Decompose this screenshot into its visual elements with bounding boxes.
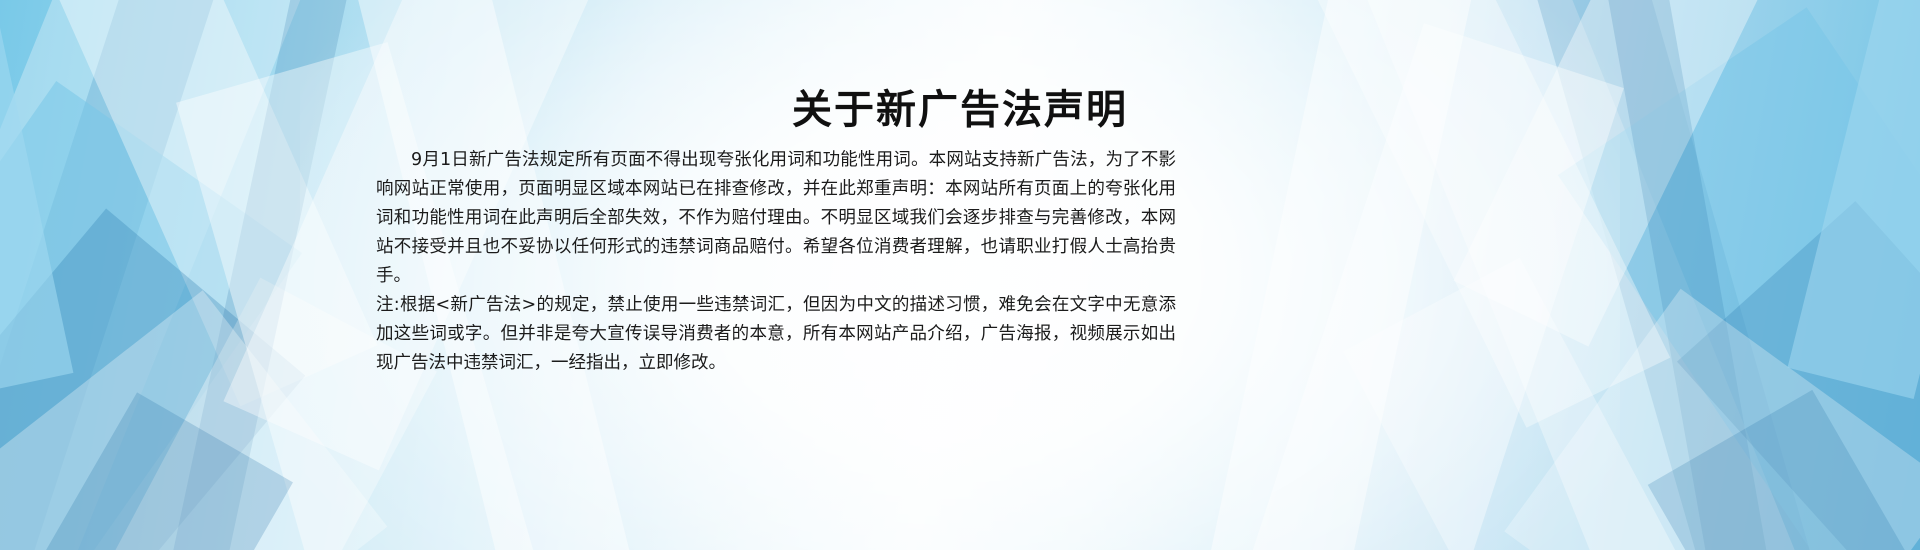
statement-body: 9月1日新广告法规定所有页面不得出现夸张化用词和功能性用词。本网站支持新广告法，… — [376, 146, 1176, 378]
page-title: 关于新广告法声明 — [0, 86, 1920, 134]
statement-paragraph-1: 9月1日新广告法规定所有页面不得出现夸张化用词和功能性用词。本网站支持新广告法，… — [376, 146, 1176, 291]
statement-content: 关于新广告法声明 9月1日新广告法规定所有页面不得出现夸张化用词和功能性用词。本… — [0, 0, 1920, 550]
statement-paragraph-2: 注:根据<新广告法>的规定，禁止使用一些违禁词汇，但因为中文的描述习惯，难免会在… — [376, 291, 1176, 378]
advertising-law-statement-banner: 关于新广告法声明 9月1日新广告法规定所有页面不得出现夸张化用词和功能性用词。本… — [0, 0, 1920, 550]
